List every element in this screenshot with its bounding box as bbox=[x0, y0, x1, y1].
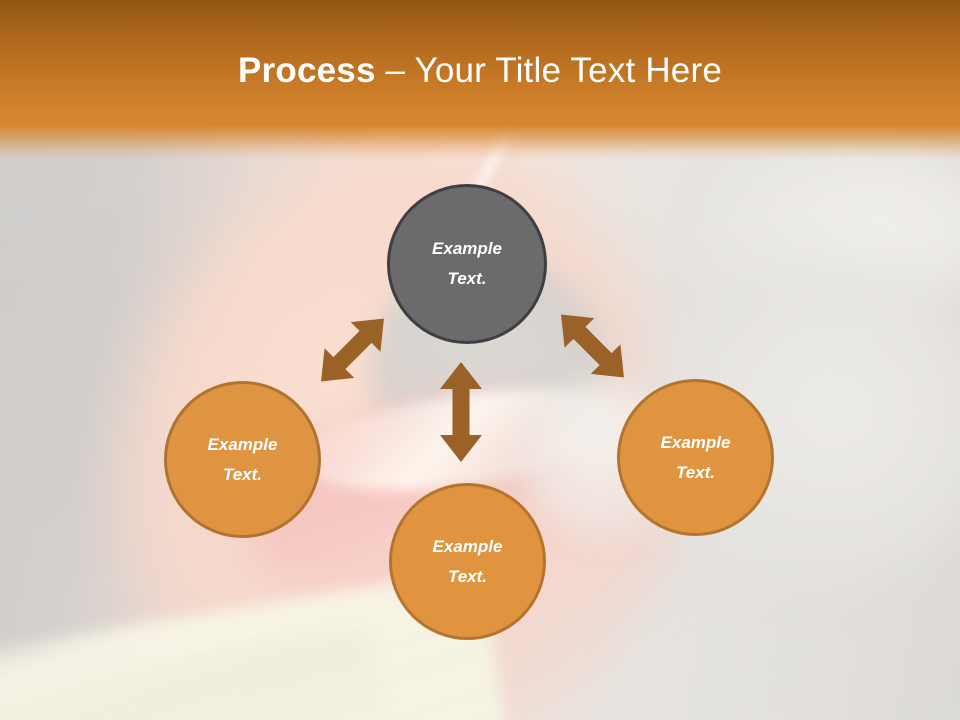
node-right-line-2: Text. bbox=[676, 458, 715, 488]
node-top-line-2: Text. bbox=[447, 264, 486, 294]
page-title-bold: Process bbox=[238, 51, 376, 90]
node-top-line-1: Example bbox=[432, 234, 502, 264]
diagram-node-top[interactable]: Example Text. bbox=[387, 184, 547, 344]
diagram-node-right[interactable]: Example Text. bbox=[617, 379, 774, 536]
node-right-line-1: Example bbox=[661, 428, 731, 458]
page-title-rest: – Your Title Text Here bbox=[376, 51, 722, 90]
page-title: Process – Your Title Text Here bbox=[0, 49, 960, 93]
node-left-line-1: Example bbox=[208, 430, 278, 460]
node-bottom-line-1: Example bbox=[433, 532, 503, 562]
presentation-slide: Process – Your Title Text Here Example T… bbox=[0, 0, 960, 720]
diagram-node-left[interactable]: Example Text. bbox=[164, 381, 321, 538]
diagram-node-bottom[interactable]: Example Text. bbox=[389, 483, 546, 640]
node-left-line-2: Text. bbox=[223, 460, 262, 490]
node-bottom-line-2: Text. bbox=[448, 562, 487, 592]
